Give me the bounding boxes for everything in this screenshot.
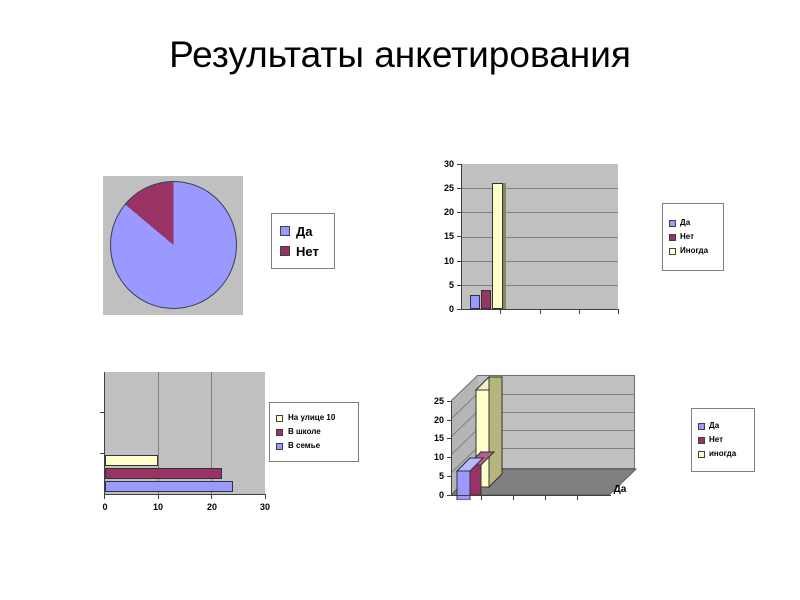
y-tick: [447, 438, 452, 439]
column3d-y-axis: [451, 401, 452, 495]
legend-swatch-da: [698, 423, 705, 430]
y-tick-label: 0: [422, 491, 444, 500]
legend-label-net: Нет: [709, 436, 723, 444]
column3d-bars[interactable]: [451, 370, 641, 500]
y-tick: [447, 457, 452, 458]
y-tick: [447, 476, 452, 477]
y-tick-label: 25: [422, 397, 444, 406]
x-tick: [545, 496, 546, 500]
y-tick: [447, 495, 452, 496]
y-tick: [447, 401, 452, 402]
column3d-legend: Да Нет иногда: [691, 408, 755, 472]
x-tick: [513, 496, 514, 500]
x-tick: [577, 496, 578, 500]
y-tick-label: 5: [422, 472, 444, 481]
legend-label-da: Да: [709, 422, 719, 430]
legend-swatch-net: [698, 437, 705, 444]
y-tick-label: 15: [422, 434, 444, 443]
legend-swatch-inogda: [698, 451, 705, 458]
y-tick-label: 10: [422, 453, 444, 462]
x-tick: [481, 496, 482, 500]
legend-item[interactable]: Да: [698, 422, 750, 430]
column3d-x-axis: [451, 495, 611, 496]
legend-item[interactable]: иногда: [698, 450, 750, 458]
y-tick-label: 20: [422, 416, 444, 425]
column3d-category-label: Да: [608, 485, 632, 494]
y-tick: [447, 420, 452, 421]
legend-item[interactable]: Нет: [698, 436, 750, 444]
column3d-chart[interactable]: 25 20 15 10 5 0 Да Да Нет иногда: [0, 0, 800, 600]
legend-label-inogda: иногда: [709, 450, 736, 458]
